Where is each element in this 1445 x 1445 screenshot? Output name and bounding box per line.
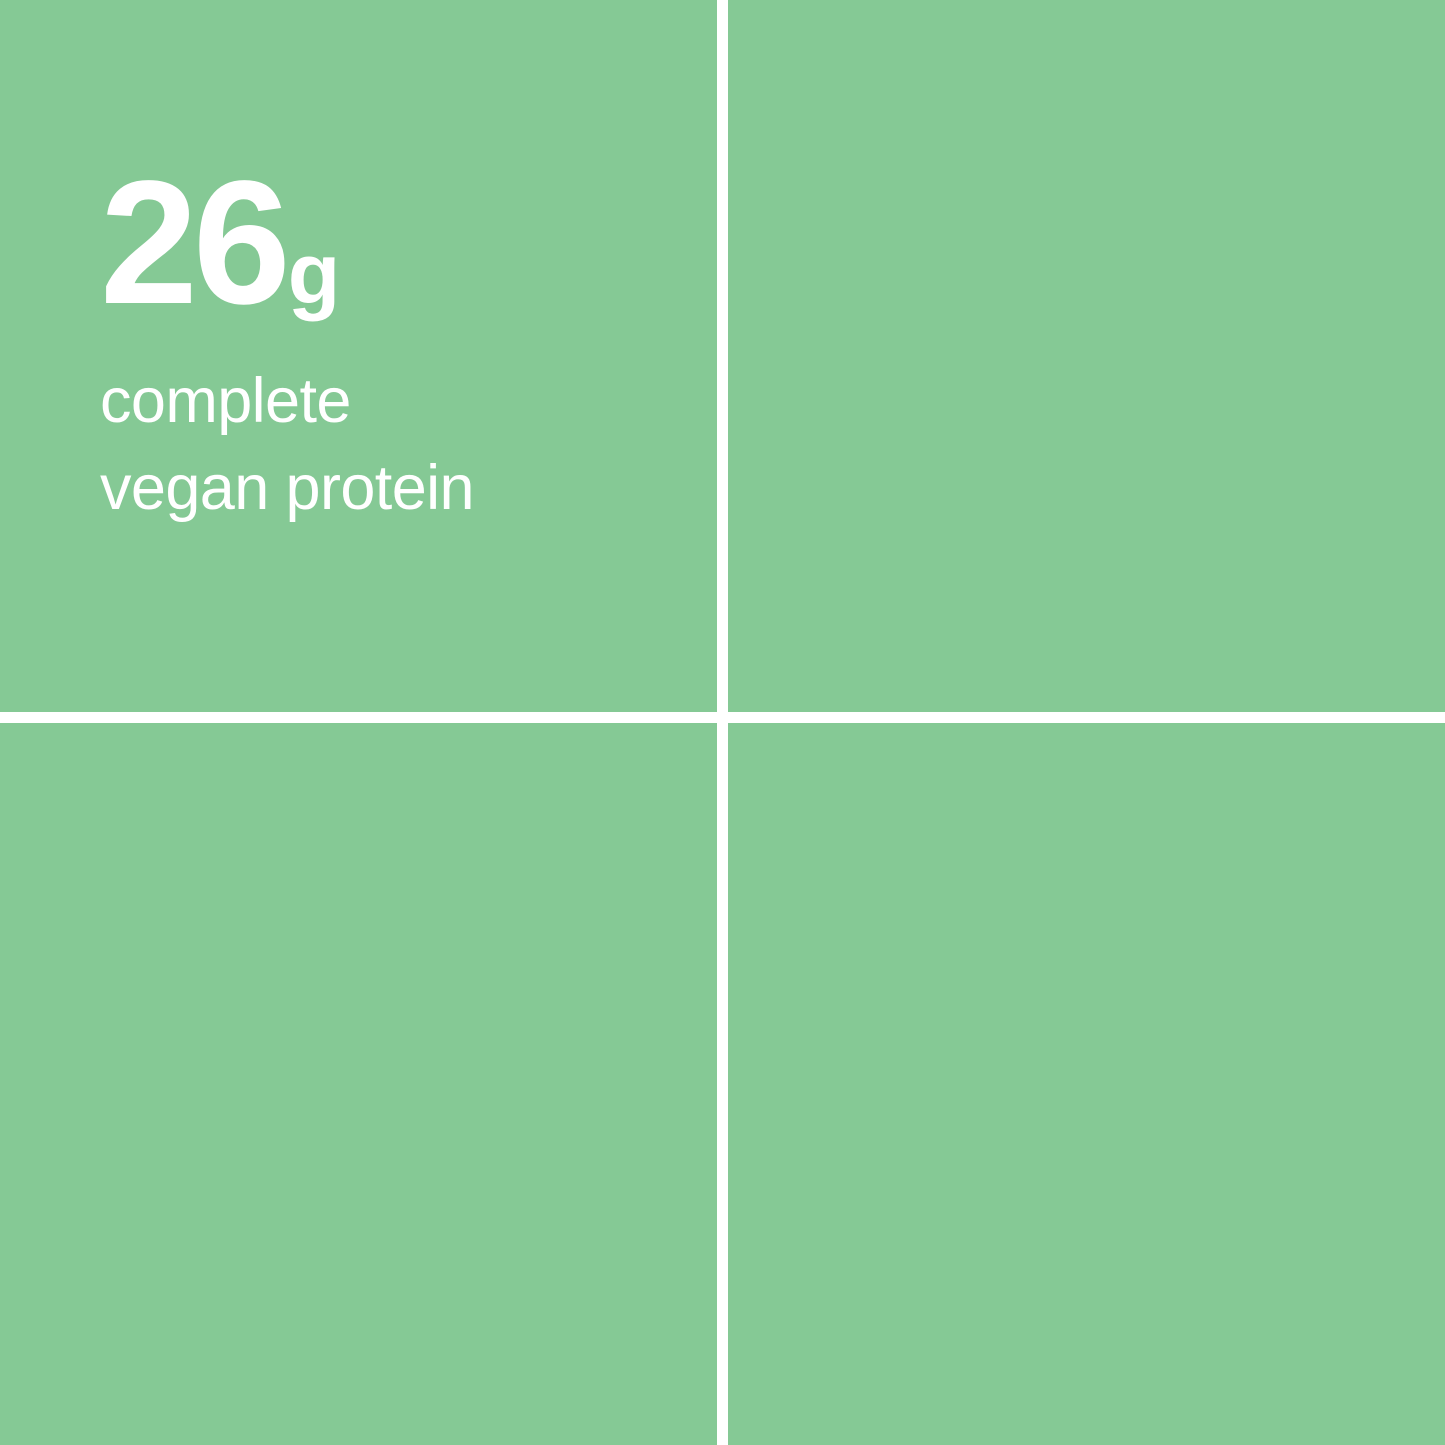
protein-description: complete vegan protein (100, 358, 474, 532)
protein-stat-unit: g (288, 231, 339, 317)
panel-certifications: NON-GMO GLUTEN FREE SOY FREE DAIRY FREE … (728, 723, 1445, 1445)
protein-description-line-1: complete (100, 358, 474, 445)
panel-protein: 26 g complete vegan protein (0, 0, 717, 712)
protein-stat-number: 26 (100, 168, 286, 319)
panel-prebiotics: prebiotics to support optimal gut health (728, 0, 1445, 712)
benefits-grid: 26 g complete vegan protein (0, 0, 1445, 1445)
protein-description-line-2: vegan protein (100, 445, 474, 532)
protein-stat: 26 g (100, 168, 338, 319)
panel-taste: mixes well & tastes great with no bad af… (0, 723, 717, 1445)
